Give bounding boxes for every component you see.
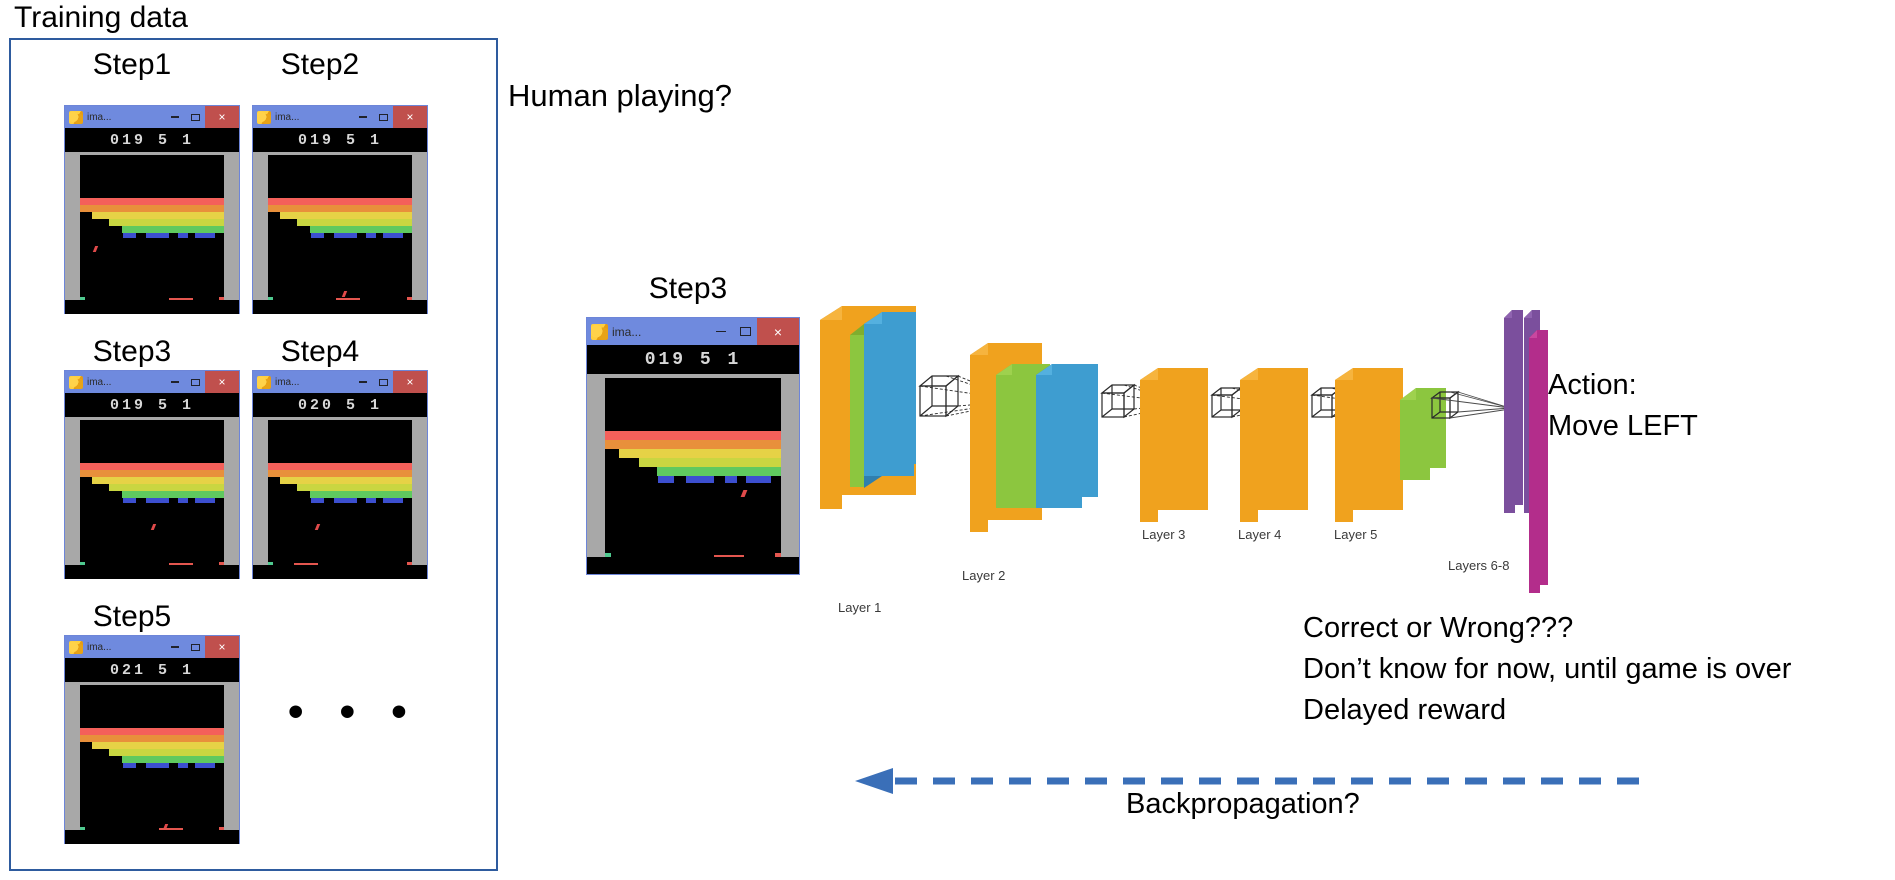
broken-brick-gap [296,226,310,233]
game-viewport-step2 [253,152,427,314]
blue-brick [725,476,737,483]
blue-brick [383,498,403,503]
ball [741,490,748,497]
brick-row [268,477,412,484]
blue-brick [195,498,215,503]
page-title: Training data [14,0,188,36]
brick-row [605,449,781,458]
game-viewport-step1 [65,152,239,314]
window-title-text: ima... [275,112,299,123]
blue-brick [658,476,674,483]
blue-brick [178,233,188,238]
broken-brick-gap [108,756,122,763]
brick-row [80,735,224,742]
brick-row [268,470,412,477]
brick-row [605,431,781,440]
cnn-diagram [820,280,1540,600]
maximize-button[interactable] [185,371,205,393]
brick-row [80,470,224,477]
window-body: 019 5 1 [253,128,427,314]
window-buttons[interactable]: × [165,371,239,393]
blue-brick [195,233,215,238]
window-title-text: ima... [275,377,299,388]
play-field [80,155,224,314]
blue-brick [123,763,136,768]
layers-6-8-label: Layers 6-8 [1448,558,1509,573]
blue-brick [146,498,169,503]
verdict-line-1: Correct or Wrong??? [1303,608,1791,649]
brick-row [80,463,224,470]
game-viewport-step3 [65,417,239,579]
layer-4-label: Layer 4 [1238,527,1281,542]
game-viewport-step4 [253,417,427,579]
close-button[interactable]: × [393,106,427,128]
python-snake-icon [257,376,271,389]
brick-row [80,728,224,735]
window-titlebar[interactable]: ima... × [65,371,239,393]
human-playing-label: Human playing? [508,78,732,114]
broken-brick-gap [280,484,297,498]
step2-caption: Step2 [246,48,394,82]
broken-brick-gap [619,458,639,476]
broken-brick-gap [296,491,310,498]
blue-brick [334,233,357,238]
layer-5-label: Layer 5 [1334,527,1377,542]
broken-brick-gap [605,449,619,476]
score-display-step2: 019 5 1 [253,128,427,152]
close-button[interactable]: × [205,371,239,393]
step1-caption: Step1 [58,48,206,82]
layer-1-label: Layer 1 [838,600,881,615]
game-window-focus-step3[interactable]: ima... × 019 5 1 [586,317,800,575]
blue-brick [311,233,324,238]
broken-brick-gap [92,749,109,763]
blue-brick [146,763,169,768]
verdict-callout: Correct or Wrong??? Don’t know for now, … [1303,608,1791,732]
score-display-step4: 020 5 1 [253,393,427,417]
window-titlebar[interactable]: ima... × [587,318,799,345]
window-title-text: ima... [87,377,111,388]
broken-brick-gap [268,212,280,233]
brick-row [268,198,412,205]
brick-row [605,440,781,449]
python-snake-icon [69,376,83,389]
close-button[interactable]: × [205,106,239,128]
maximize-button[interactable] [373,371,393,393]
step4-caption: Step4 [246,335,394,369]
blue-brick [311,498,324,503]
game-window-step4[interactable]: ima... × 020 5 1 [252,370,428,579]
game-window-step1[interactable]: ima... × 019 5 1 [64,105,240,314]
step3-caption: Step3 [58,335,206,369]
play-field [268,155,412,314]
score-display-step5: 021 5 1 [65,658,239,682]
close-button[interactable]: × [393,371,427,393]
close-button[interactable]: × [205,636,239,658]
score-display-step1: 019 5 1 [65,128,239,152]
ellipsis-indicator: • • • [288,690,419,734]
ball [151,524,156,530]
window-buttons[interactable]: × [709,318,799,345]
maximize-icon [379,379,388,386]
ball [342,291,347,297]
window-titlebar[interactable]: ima... × [253,371,427,393]
blue-brick [686,476,714,483]
brick-row [80,477,224,484]
blue-brick [123,233,136,238]
window-body: 019 5 1 [65,128,239,314]
maximize-button[interactable] [185,106,205,128]
minimize-icon [171,381,179,383]
minimize-button[interactable] [353,371,373,393]
blue-brick [123,498,136,503]
broken-brick-gap [280,219,297,233]
minimize-icon [359,116,367,118]
game-viewport-step5 [65,682,239,844]
brick-row [268,205,412,212]
broken-brick-gap [639,467,657,476]
window-title-text: ima... [87,112,111,123]
game-window-step3-thumb[interactable]: ima... × 019 5 1 [64,370,240,579]
minimize-button[interactable] [165,371,185,393]
brick-row [268,212,412,219]
play-field [605,378,781,574]
floor-strip [253,565,427,579]
floor-strip [65,565,239,579]
window-buttons[interactable]: × [165,106,239,128]
blue-brick [746,476,771,483]
layer5-block [1335,368,1510,522]
floor-strip [587,557,799,574]
blue-brick [383,233,403,238]
broken-brick-gap [80,212,92,233]
brick-row [80,198,224,205]
play-field [80,420,224,579]
broken-brick-gap [92,219,109,233]
game-window-step2[interactable]: ima... × 019 5 1 [252,105,428,314]
blue-brick [334,498,357,503]
action-line-2: Move LEFT [1548,406,1698,447]
broken-brick-gap [108,226,122,233]
maximize-icon [191,114,200,121]
slide-canvas: Training data Human playing? Step1 Step2… [0,0,1895,880]
step5-caption: Step5 [58,600,206,634]
close-button[interactable]: × [757,318,799,345]
window-body: 019 5 1 [65,393,239,579]
verdict-line-2: Don’t know for now, until game is over [1303,649,1791,690]
broken-brick-gap [80,742,92,763]
minimize-icon [171,116,179,118]
python-snake-icon [69,111,83,124]
blue-brick [178,763,188,768]
window-buttons[interactable]: × [165,636,239,658]
brick-row [80,212,224,219]
window-titlebar[interactable]: ima... × [65,106,239,128]
minimize-icon [359,381,367,383]
focus-step-caption: Step3 [588,272,788,306]
blue-brick [146,233,169,238]
maximize-icon [191,379,200,386]
window-title-text: ima... [612,325,641,339]
backpropagation-label: Backpropagation? [1126,788,1360,821]
python-snake-icon [257,111,271,124]
blue-brick [178,498,188,503]
play-field [80,685,224,844]
layer-3-label: Layer 3 [1142,527,1185,542]
game-viewport-focus [587,374,799,574]
python-snake-icon [69,641,83,654]
brick-row [80,742,224,749]
window-titlebar[interactable]: ima... × [65,636,239,658]
maximize-button[interactable] [373,106,393,128]
broken-brick-gap [80,477,92,498]
minimize-icon [171,646,179,648]
action-callout: Action: Move LEFT [1548,365,1698,447]
window-body: 019 5 1 [587,345,799,574]
broken-brick-gap [92,484,109,498]
score-display-focus: 019 5 1 [587,345,799,374]
python-snake-icon [591,324,608,340]
minimize-icon [716,331,726,333]
brick-row [80,205,224,212]
maximize-icon [379,114,388,121]
blue-brick [366,233,376,238]
score-display-step3: 019 5 1 [65,393,239,417]
window-buttons[interactable]: × [353,371,427,393]
broken-brick-gap [108,491,122,498]
play-field [268,420,412,579]
minimize-button[interactable] [165,106,185,128]
brick-row [268,463,412,470]
window-body: 020 5 1 [253,393,427,579]
minimize-button[interactable] [165,636,185,658]
ball [315,524,320,530]
action-line-1: Action: [1548,365,1698,406]
window-titlebar[interactable]: ima... × [253,106,427,128]
maximize-icon [740,327,751,336]
minimize-button[interactable] [353,106,373,128]
floor-strip [65,300,239,314]
floor-strip [65,830,239,844]
window-body: 021 5 1 [65,658,239,844]
maximize-icon [191,644,200,651]
blue-brick [195,763,215,768]
broken-brick-gap [268,477,280,498]
window-title-text: ima... [87,642,111,653]
blue-brick [366,498,376,503]
verdict-line-3: Delayed reward [1303,690,1791,731]
game-window-step5[interactable]: ima... × 021 5 1 [64,635,240,844]
maximize-button[interactable] [185,636,205,658]
minimize-button[interactable] [709,318,733,345]
maximize-button[interactable] [733,318,757,345]
floor-strip [253,300,427,314]
window-buttons[interactable]: × [353,106,427,128]
ball [93,246,98,252]
layer-2-label: Layer 2 [962,568,1005,583]
